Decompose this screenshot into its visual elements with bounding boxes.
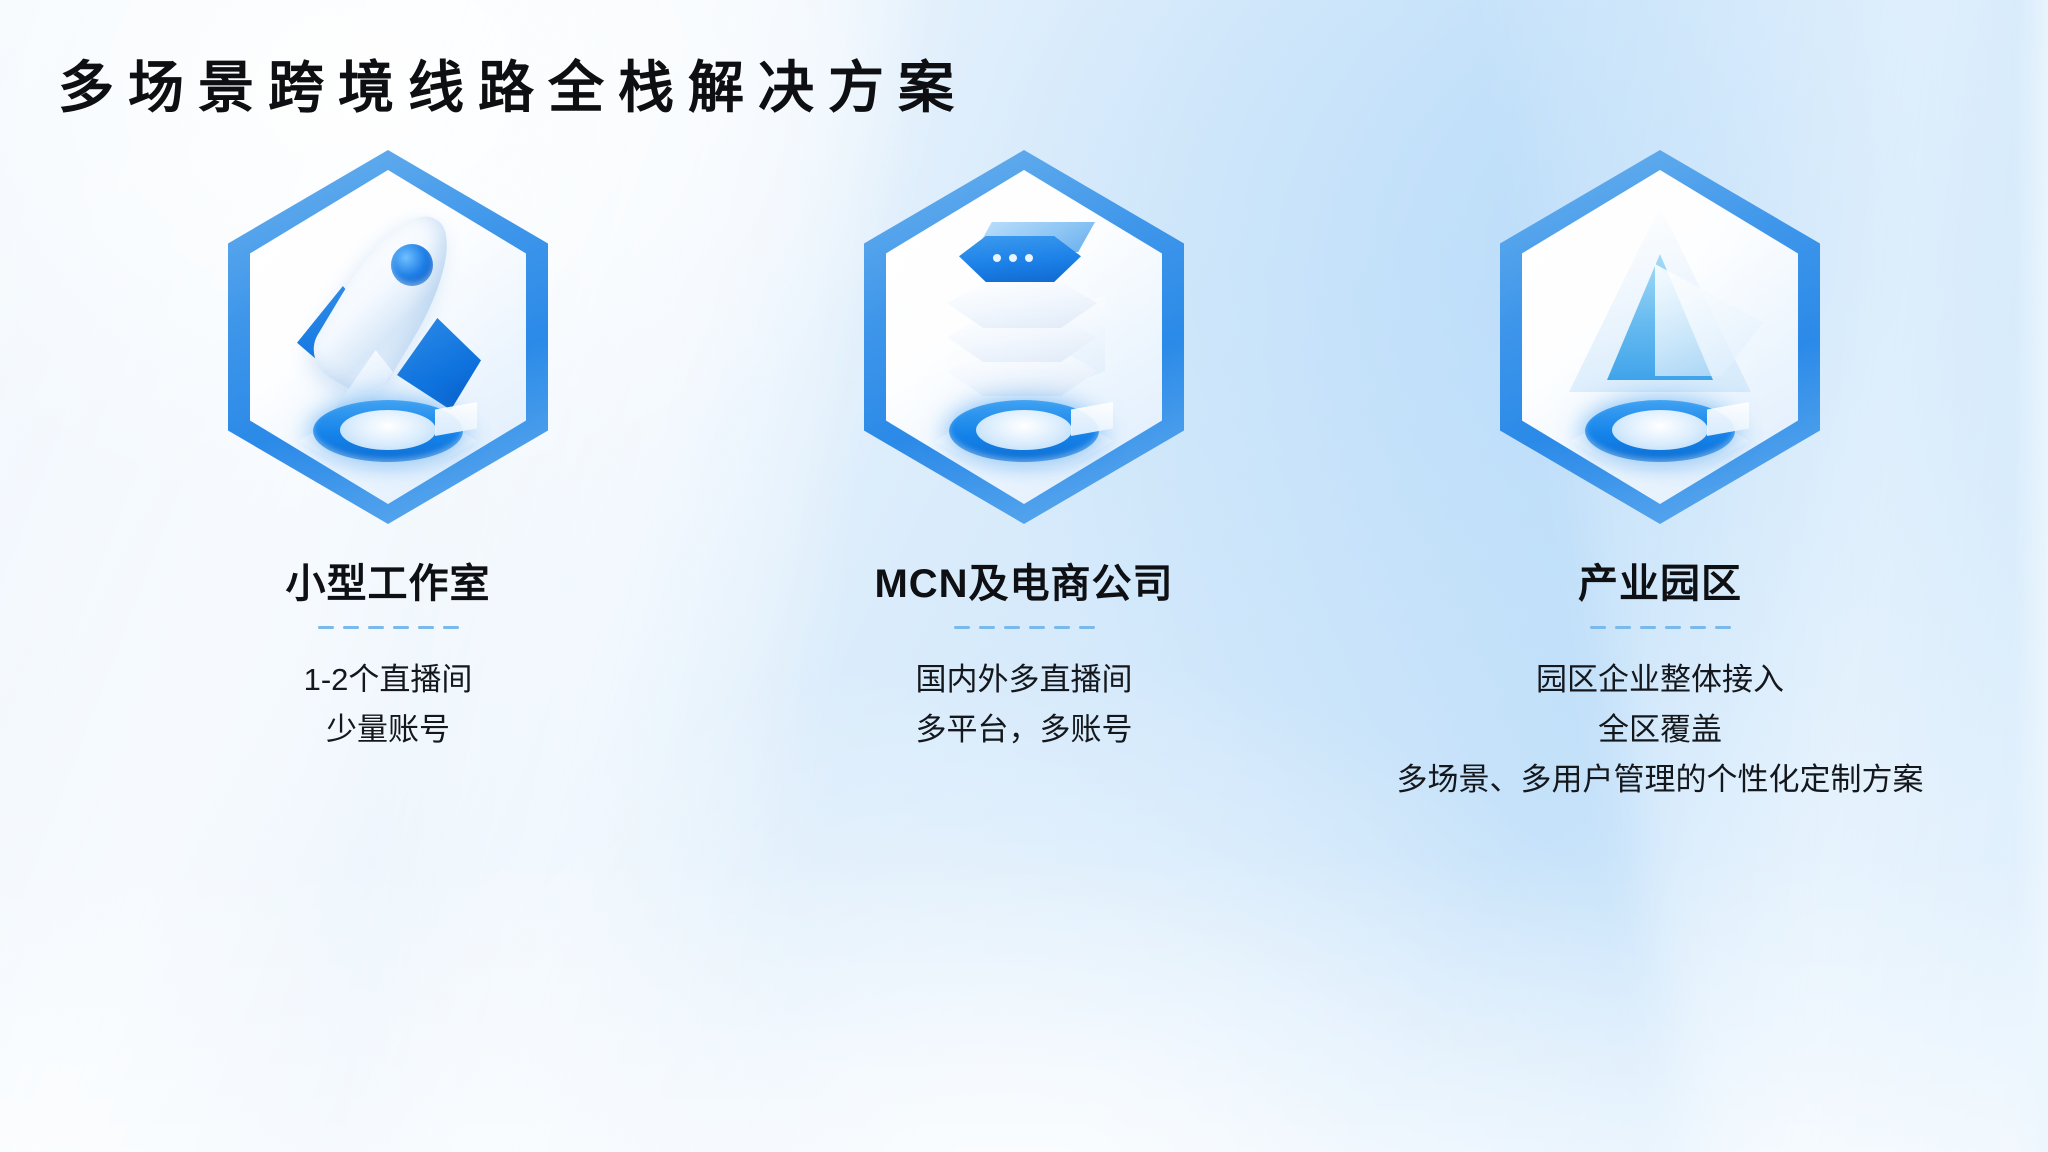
rocket-icon: [263, 198, 513, 488]
card-description: 国内外多直播间 多平台，多账号: [916, 655, 1133, 755]
divider-dash: [368, 626, 384, 629]
glow-ring-base-1: [293, 392, 483, 470]
pyramid-glass-sheet: [1655, 264, 1763, 376]
ring-inner: [340, 410, 436, 450]
divider-dash: [1615, 626, 1631, 629]
divider-dash: [418, 626, 434, 629]
card-title: 产业园区: [1578, 560, 1742, 608]
status-dot: [1009, 254, 1017, 262]
divider-dash: [1004, 626, 1020, 629]
scenario-card-mcn-ecommerce[interactable]: MCN及电商公司 国内外多直播间 多平台，多账号: [744, 150, 1304, 755]
stack-status-dots: [993, 254, 1033, 262]
status-dot: [1025, 254, 1033, 262]
hexagon-badge-2: [859, 150, 1189, 540]
divider-dash: [1640, 626, 1656, 629]
divider-dash: [343, 626, 359, 629]
card-description-line: 园区企业整体接入: [1397, 655, 1924, 705]
divider-dash: [1690, 626, 1706, 629]
card-description: 园区企业整体接入 全区覆盖 多场景、多用户管理的个性化定制方案: [1397, 655, 1924, 806]
pyramid-icon: [1535, 198, 1785, 488]
server-stack-icon: [899, 198, 1149, 488]
scenario-card-small-studio[interactable]: 小型工作室 1-2个直播间 少量账号: [108, 150, 668, 755]
page-title: 多场景跨境线路全栈解决方案: [58, 56, 968, 120]
scenario-card-industrial-park[interactable]: 产业园区 园区企业整体接入 全区覆盖 多场景、多用户管理的个性化定制方案: [1380, 150, 1940, 806]
rocket-window: [391, 244, 433, 286]
card-description-line: 多场景、多用户管理的个性化定制方案: [1397, 755, 1924, 805]
hexagon-badge-3: [1495, 150, 1825, 540]
card-description-line: 国内外多直播间: [916, 655, 1133, 705]
background-bottom-fade: [0, 852, 2048, 1152]
status-dot: [993, 254, 1001, 262]
card-divider: [318, 626, 459, 629]
hexagon-badge-1: [223, 150, 553, 540]
card-description-line: 1-2个直播间: [304, 655, 473, 705]
ring-inner: [1612, 410, 1708, 450]
glow-ring-base-3: [1565, 392, 1755, 470]
divider-dash: [1029, 626, 1045, 629]
divider-dash: [954, 626, 970, 629]
divider-dash: [1715, 626, 1731, 629]
glow-ring-base-2: [929, 392, 1119, 470]
card-title: MCN及电商公司: [874, 560, 1173, 608]
card-description-line: 少量账号: [304, 705, 473, 755]
divider-dash: [443, 626, 459, 629]
divider-dash: [1079, 626, 1095, 629]
stack-top-unit: [959, 222, 1095, 288]
divider-dash: [1054, 626, 1070, 629]
divider-dash: [1590, 626, 1606, 629]
card-description-line: 多平台，多账号: [916, 705, 1133, 755]
divider-dash: [318, 626, 334, 629]
card-description-line: 全区覆盖: [1397, 705, 1924, 755]
ring-inner: [976, 410, 1072, 450]
divider-dash: [979, 626, 995, 629]
card-divider: [954, 626, 1095, 629]
card-description: 1-2个直播间 少量账号: [304, 655, 473, 755]
scenario-card-list: 小型工作室 1-2个直播间 少量账号: [0, 150, 2048, 806]
divider-dash: [1665, 626, 1681, 629]
card-title: 小型工作室: [286, 560, 491, 608]
card-divider: [1590, 626, 1731, 629]
divider-dash: [393, 626, 409, 629]
